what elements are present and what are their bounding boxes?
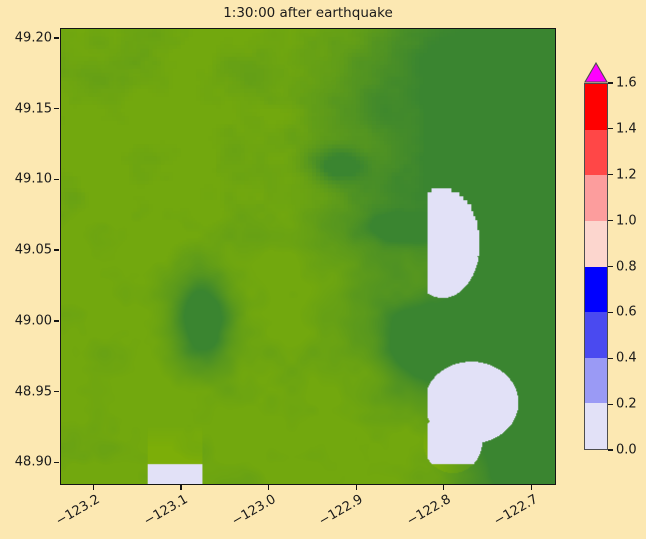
colorbar-gradient <box>584 83 608 450</box>
y-tick-mark <box>54 108 59 109</box>
y-tick-mark <box>54 37 59 38</box>
colorbar-tick-mark <box>608 128 613 129</box>
x-tick-label: −123.1 <box>124 492 190 539</box>
colorbar-tick-label: 1.6 <box>616 76 637 91</box>
colorbar-tick-mark <box>608 404 613 405</box>
x-tick-label: −122.7 <box>475 492 541 539</box>
colorbar-tick-mark <box>608 449 613 450</box>
colorbar-band <box>585 84 607 130</box>
colorbar-tick-label: 0.8 <box>616 259 637 274</box>
colorbar-band <box>585 312 607 358</box>
colorbar-tick-label: 0.4 <box>616 351 637 366</box>
colorbar-tick-label: 1.2 <box>616 167 637 182</box>
colorbar-tick-label: 1.0 <box>616 213 637 228</box>
colorbar-band <box>585 403 607 449</box>
colorbar-tick-mark <box>608 82 613 83</box>
colorbar-band <box>585 358 607 404</box>
x-tick-label: −122.9 <box>299 492 365 539</box>
colorbar-tick-mark <box>608 266 613 267</box>
y-tick-mark <box>54 391 59 392</box>
y-tick-mark <box>54 249 59 250</box>
x-tick-mark <box>531 485 532 490</box>
colorbar-extend-arrow-icon <box>584 62 608 83</box>
colorbar-tick-label: 1.4 <box>616 121 637 136</box>
x-tick-mark <box>356 485 357 490</box>
x-tick-label: −123.2 <box>36 492 102 539</box>
colorbar-tick-label: 0.0 <box>616 443 637 458</box>
x-tick-label: −123.0 <box>212 492 278 539</box>
x-tick-mark <box>268 485 269 490</box>
x-tick-mark <box>443 485 444 490</box>
colorbar-tick-mark <box>608 220 613 221</box>
colorbar-band <box>585 175 607 221</box>
colorbar-tick-mark <box>608 358 613 359</box>
x-tick-label: −122.8 <box>387 492 453 539</box>
figure-canvas: 1:30:00 after earthquake 48.9048.9549.00… <box>0 0 646 536</box>
colorbar[interactable]: 0.00.20.40.60.81.01.21.41.6 <box>584 62 646 462</box>
colorbar-band <box>585 267 607 313</box>
colorbar-band <box>585 130 607 176</box>
y-tick-mark <box>54 179 59 180</box>
y-tick-mark <box>54 462 59 463</box>
colorbar-tick-label: 0.2 <box>616 397 637 412</box>
colorbar-band <box>585 221 607 267</box>
colorbar-tick-label: 0.6 <box>616 305 637 320</box>
colorbar-tick-mark <box>608 312 613 313</box>
x-tick-mark <box>180 485 181 490</box>
x-axis-tick-labels: −123.2−123.1−123.0−122.9−122.8−122.7 <box>0 0 646 536</box>
x-tick-mark <box>93 485 94 490</box>
colorbar-tick-mark <box>608 174 613 175</box>
y-tick-mark <box>54 320 59 321</box>
